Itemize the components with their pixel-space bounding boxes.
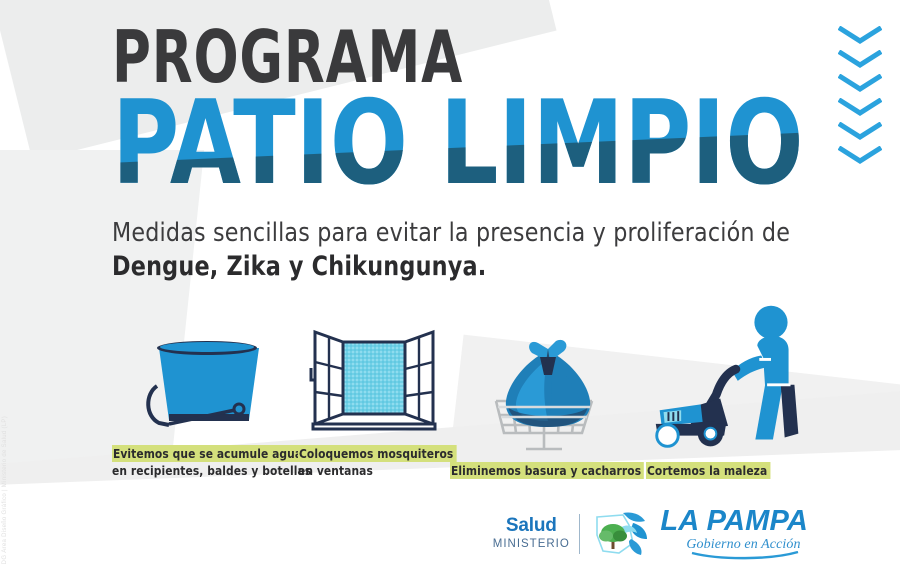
measure-caption: Evitemos que se acumule agua en recipien…	[112, 446, 289, 480]
subtitle-line-1: Medidas sencillas para evitar la presenc…	[112, 218, 777, 248]
logo-divider	[579, 514, 581, 554]
ministerio-wordmark: MINISTERIO	[493, 539, 570, 551]
measure-item: Cortemos la maleza	[646, 335, 812, 480]
headline-block: PROGRAMA PATIO LIMPIO PATIO LIMPIO Medid…	[112, 24, 812, 282]
chevron-down-icon	[838, 146, 882, 165]
chevron-down-icon	[838, 122, 882, 141]
measure-caption-highlight: Cortemos la maleza	[646, 462, 770, 479]
measures-row: Evitemos que se acumule agua en recipien…	[112, 318, 812, 480]
salud-wordmark: Salud	[493, 516, 570, 535]
measure-caption: Eliminemos basura y cacharros	[450, 463, 636, 480]
logo-swoosh-icon	[690, 551, 800, 560]
poster-canvas: DG Área Diseño Gráfico | Ministerio de S…	[0, 0, 900, 572]
measure-item: Eliminemos basura y cacharros	[450, 335, 646, 480]
title-main-wrap: PATIO LIMPIO PATIO LIMPIO	[112, 86, 812, 204]
la-pampa-province-emblem-icon	[589, 509, 651, 559]
measure-item: Evitemos que se acumule agua en recipien…	[112, 318, 298, 480]
logo-lockup: Salud MINISTERIO LA PAMPA Gobierno en Ac…	[493, 507, 808, 560]
measure-caption-highlight: Evitemos que se acumule agua	[112, 445, 305, 462]
measure-caption-highlight: Eliminemos basura y cacharros	[450, 462, 644, 479]
subtitle-line-2: Dengue, Zika y Chikungunya.	[112, 251, 756, 282]
chevron-down-icon	[838, 50, 882, 69]
window-screen-icon	[298, 318, 450, 436]
ministry-logo: Salud MINISTERIO	[493, 516, 570, 551]
trash-bag-icon	[450, 335, 646, 453]
credit-text: DG Área Diseño Gráfico | Ministerio de S…	[2, 416, 8, 564]
la-pampa-logo: LA PAMPA Gobierno en Acción	[660, 507, 808, 560]
chevron-down-icon	[838, 26, 882, 45]
measure-caption-rest: en ventanas	[298, 463, 442, 480]
chevron-down-icon	[838, 74, 882, 93]
measure-item: Coloquemos mosquiteros en ventanas	[298, 318, 450, 480]
measure-caption: Cortemos la maleza	[646, 463, 804, 480]
chevron-down-icon	[838, 98, 882, 117]
lawn-mower-icon	[646, 335, 812, 453]
measure-caption-highlight: Coloquemos mosquiteros	[298, 445, 456, 462]
measure-caption: Coloquemos mosquiteros en ventanas	[298, 446, 442, 480]
gobierno-tagline: Gobierno en Acción	[686, 538, 808, 552]
chevron-stack	[838, 26, 882, 165]
la-pampa-wordmark: LA PAMPA	[660, 507, 808, 536]
bucket-and-brush-icon	[112, 318, 298, 436]
measure-caption-rest: en recipientes, baldes y botellas	[112, 463, 289, 480]
